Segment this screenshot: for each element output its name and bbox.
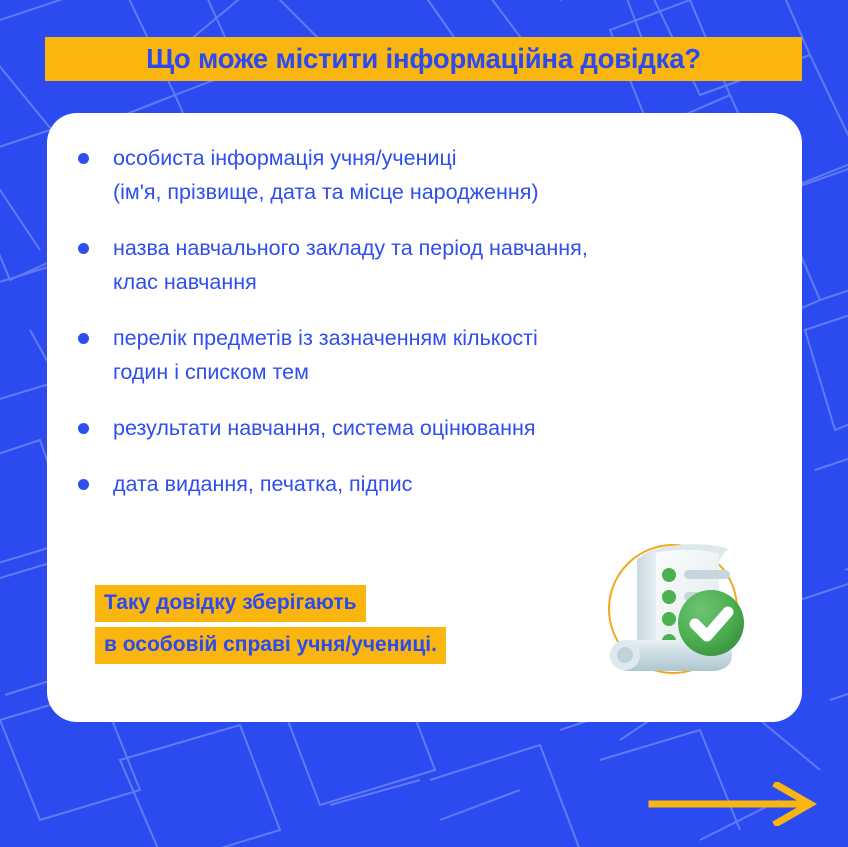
list-item: дата видання, печатка, підпис <box>73 467 773 501</box>
list-item-line: клас навчання <box>113 265 773 299</box>
storage-note: Таку довідку зберігають в особовій справ… <box>95 585 446 664</box>
list-item: особиста інформація учня/учениці (ім'я, … <box>73 141 773 209</box>
list-item-line: назва навчального закладу та період навч… <box>113 231 773 265</box>
bullet-dot-icon <box>78 333 89 344</box>
storage-note-line-1: Таку довідку зберігають <box>95 585 366 622</box>
requirements-list: особиста інформація учня/учениці (ім'я, … <box>73 141 773 501</box>
list-item: назва навчального закладу та період навч… <box>73 231 773 299</box>
list-item-line: особиста інформація учня/учениці <box>113 141 773 175</box>
storage-note-line-2: в особовій справі учня/учениці. <box>95 627 446 664</box>
list-item-line: перелік предметів із зазначенням кількос… <box>113 321 773 355</box>
list-item-line: дата видання, печатка, підпис <box>113 467 773 501</box>
slide: Що може містити інформаційна довідка? ос… <box>0 0 848 847</box>
bullet-dot-icon <box>78 153 89 164</box>
check-badge-icon <box>678 590 744 656</box>
bullet-dot-icon <box>78 479 89 490</box>
document-scroll-illustration <box>580 527 770 697</box>
list-item: перелік предметів із зазначенням кількос… <box>73 321 773 389</box>
list-item-line: результати навчання, система оцінювання <box>113 411 773 445</box>
title-banner: Що може містити інформаційна довідка? <box>45 37 802 81</box>
list-item-line: годин і списком тем <box>113 355 773 389</box>
next-arrow-button[interactable] <box>648 782 818 826</box>
bullet-dot-icon <box>78 423 89 434</box>
list-item-line: (ім'я, прізвище, дата та місце народженн… <box>113 175 773 209</box>
bullet-dot-icon <box>78 243 89 254</box>
page-title: Що може містити інформаційна довідка? <box>146 45 701 73</box>
list-item: результати навчання, система оцінювання <box>73 411 773 445</box>
content-card: особиста інформація учня/учениці (ім'я, … <box>47 113 802 722</box>
